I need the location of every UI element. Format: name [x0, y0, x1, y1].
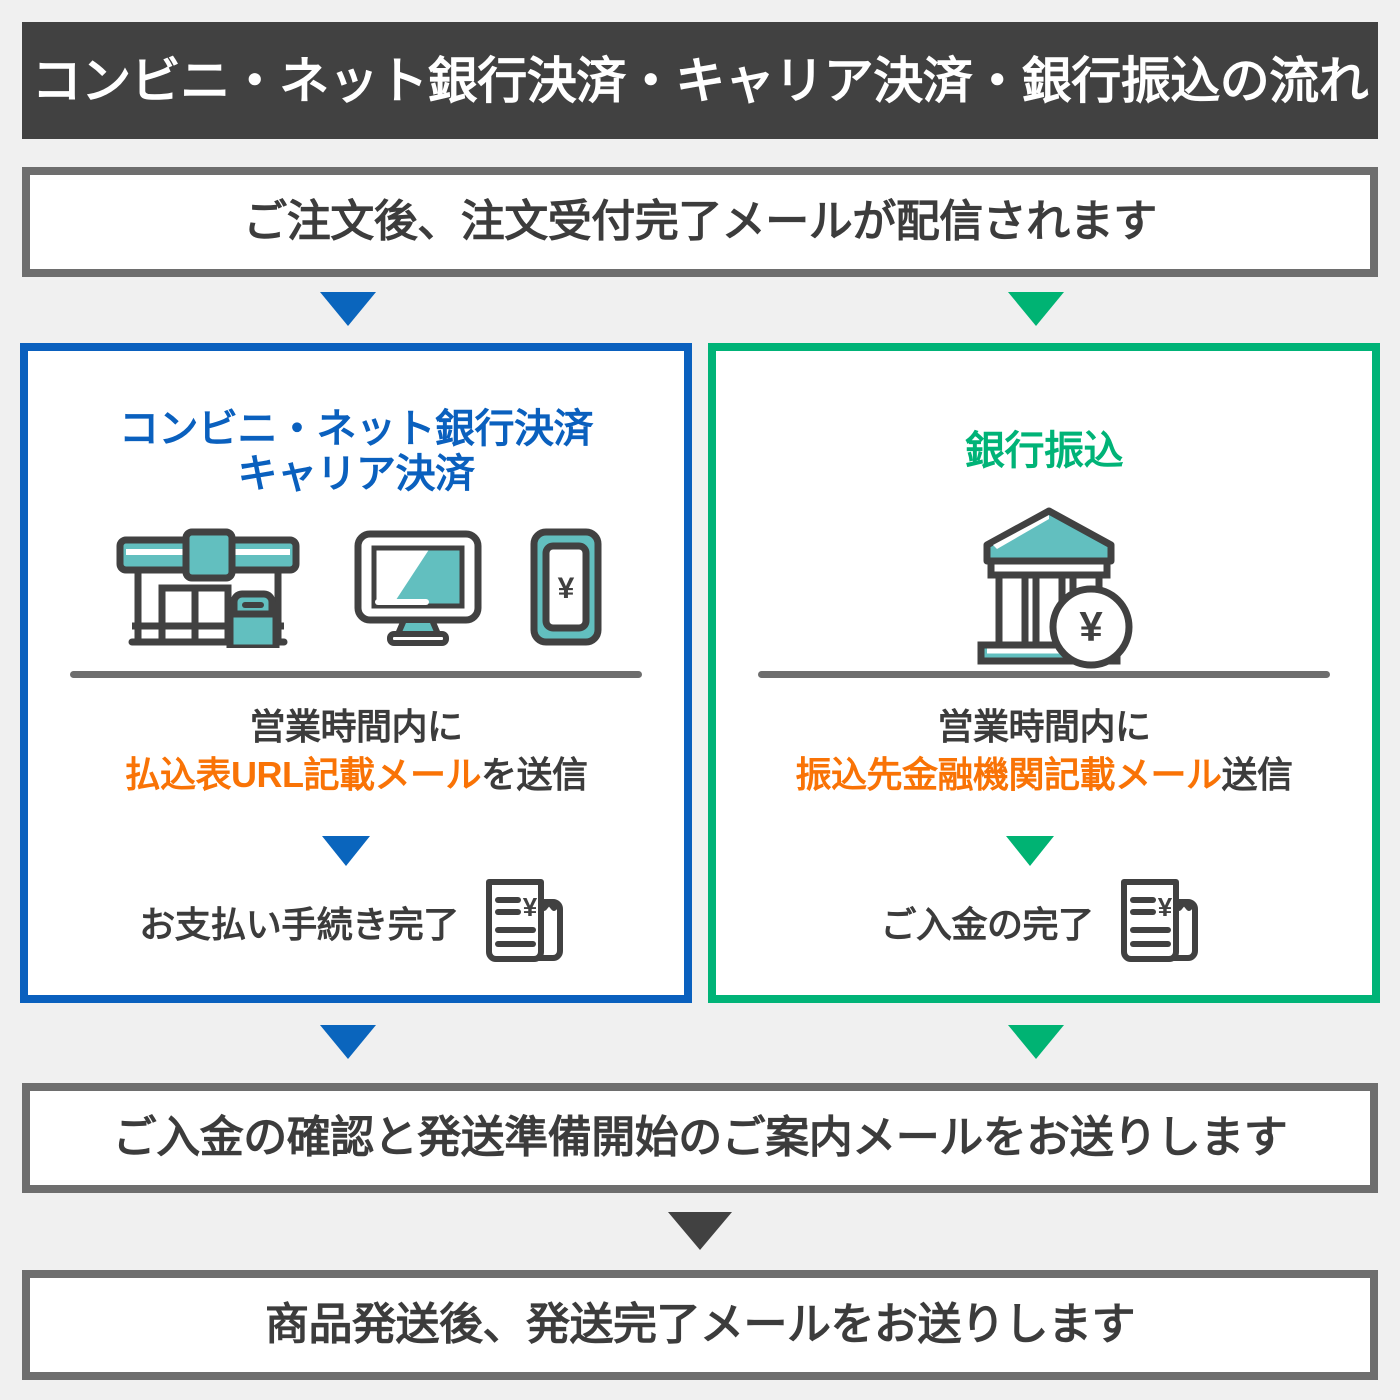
panel-bank-note: 営業時間内に 振込先金融機関記載メール送信 — [716, 703, 1372, 798]
down-arrow-icon-conbini-inner — [322, 836, 370, 866]
down-arrow-icon-to-bank — [1008, 292, 1064, 326]
page-title: コンビニ・ネット銀行決済・キャリア決済・銀行振込の流れ — [32, 56, 1369, 106]
panel-conbini-divider — [70, 671, 642, 678]
panel-bank-finish: ご入金の完了 ¥ — [716, 876, 1372, 968]
panel-bank-note-tail: 送信 — [1222, 754, 1293, 795]
diagram-title-bar: コンビニ・ネット銀行決済・キャリア決済・銀行振込の流れ — [22, 22, 1378, 139]
step-payment-confirmed-box: ご入金の確認と発送準備開始のご案内メールをお送りします — [22, 1083, 1378, 1193]
panel-conbini-title-line2: キャリア決済 — [28, 452, 684, 497]
panel-conbini-title: コンビニ・ネット銀行決済 キャリア決済 — [28, 407, 684, 497]
down-arrow-icon-bank-to-confirm — [1008, 1025, 1064, 1059]
bank-building-yen-coin-icon: ¥ — [949, 501, 1139, 669]
panel-bank-title: 銀行振込 — [716, 429, 1372, 474]
svg-text:¥: ¥ — [1079, 603, 1103, 650]
invoice-yen-icon: ¥ — [473, 876, 573, 968]
panel-conbini-note: 営業時間内に 払込表URL記載メールを送信 — [28, 703, 684, 798]
panel-bank-transfer: 銀行振込 — [708, 343, 1380, 1003]
invoice-yen-icon: ¥ — [1108, 876, 1208, 968]
panel-conbini-finish: お支払い手続き完了 ¥ — [28, 876, 684, 968]
panel-conbini-note-line2: 払込表URL記載メールを送信 — [28, 751, 684, 799]
panel-conbini-note-line1: 営業時間内に — [28, 703, 684, 751]
panel-conbini-title-line1: コンビニ・ネット銀行決済 — [28, 407, 684, 452]
smartphone-yen-icon: ¥ — [528, 526, 604, 648]
panel-bank-note-line2: 振込先金融機関記載メール送信 — [716, 751, 1372, 799]
step-order-email-label: ご注文後、注文受付完了メールが配信されます — [243, 200, 1157, 244]
step-order-email-box: ご注文後、注文受付完了メールが配信されます — [22, 167, 1378, 277]
svg-text:¥: ¥ — [523, 892, 538, 922]
panel-bank-finish-label: ご入金の完了 — [880, 896, 1093, 948]
panel-bank-note-highlight: 振込先金融機関記載メール — [795, 754, 1221, 795]
convenience-store-icon — [108, 526, 308, 648]
panel-bank-icon-row: ¥ — [716, 501, 1372, 669]
down-arrow-icon-confirm-to-shipped — [668, 1212, 732, 1250]
step-shipped-box: 商品発送後、発送完了メールをお送りします — [22, 1270, 1378, 1380]
down-arrow-icon-bank-inner — [1006, 836, 1054, 866]
svg-text:¥: ¥ — [558, 572, 575, 605]
svg-text:¥: ¥ — [1157, 892, 1172, 922]
panel-conbini-finish-label: お支払い手続き完了 — [139, 896, 459, 948]
panel-bank-note-line1: 営業時間内に — [716, 703, 1372, 751]
step-shipped-label: 商品発送後、発送完了メールをお送りします — [265, 1303, 1135, 1347]
panel-bank-divider — [758, 671, 1330, 678]
down-arrow-icon-to-conbini — [320, 292, 376, 326]
panel-conbini-icon-row: ¥ — [28, 526, 684, 648]
desktop-monitor-icon — [352, 526, 484, 648]
down-arrow-icon-conbini-to-confirm — [320, 1025, 376, 1059]
step-payment-confirmed-label: ご入金の確認と発送準備開始のご案内メールをお送りします — [113, 1116, 1288, 1160]
panel-bank-title-line1: 銀行振込 — [716, 429, 1372, 474]
payment-flow-diagram: コンビニ・ネット銀行決済・キャリア決済・銀行振込の流れ ご注文後、注文受付完了メ… — [0, 0, 1400, 1400]
panel-conbini-payment: コンビニ・ネット銀行決済 キャリア決済 — [20, 343, 692, 1003]
panel-conbini-note-highlight: 払込表URL記載メール — [124, 754, 481, 795]
panel-conbini-note-tail: を送信 — [481, 754, 588, 795]
